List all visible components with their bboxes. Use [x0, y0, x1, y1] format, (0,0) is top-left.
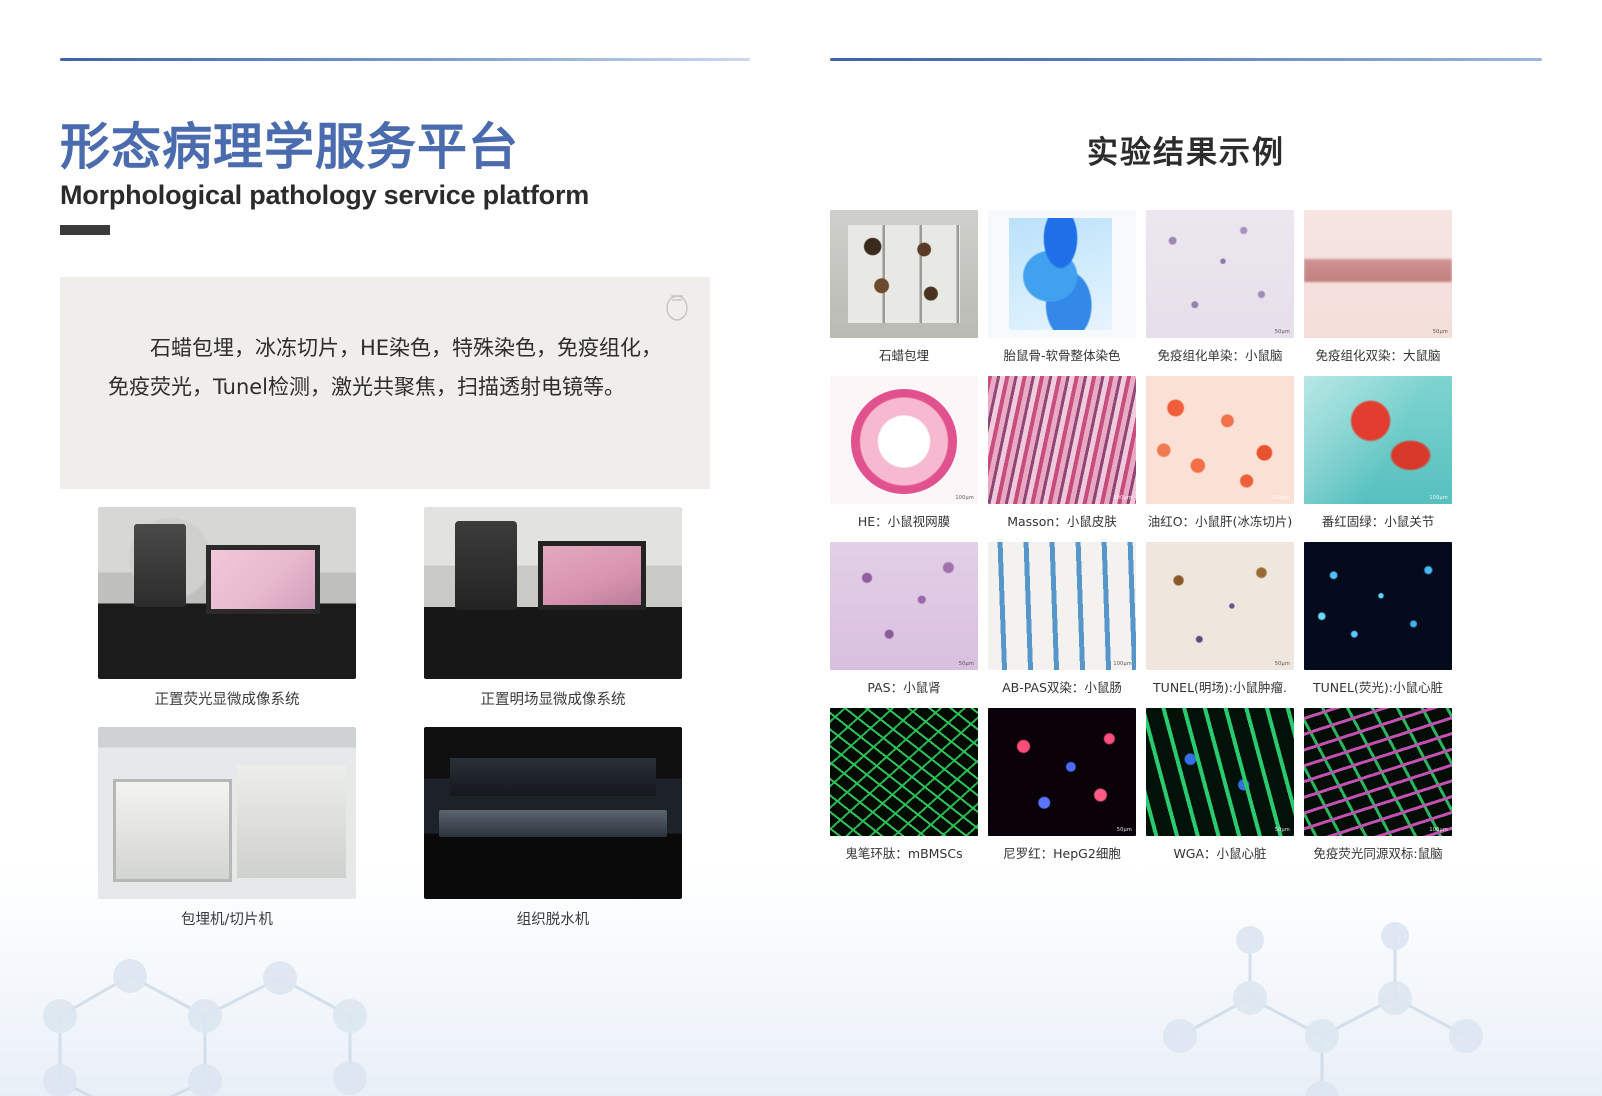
result-item: TUNEL(荧光):小鼠心脏 [1304, 542, 1452, 704]
description-panel: 石蜡包埋，冰冻切片，HE染色，特殊染色，免疫组化，免疫荧光，Tunel检测，激光… [60, 277, 710, 489]
result-item: 50μm 免疫组化单染：小鼠脑 [1146, 210, 1294, 372]
equipment-caption: 组织脱水机 [424, 908, 682, 929]
page-title-english: Morphological pathology service platform [60, 180, 750, 211]
result-caption: PAS：小鼠肾 [830, 677, 978, 696]
scale-bar-label: 50μm [1275, 827, 1290, 833]
right-column: 实验结果示例 石蜡包埋 胎鼠骨-软骨整体染色 50μm [830, 58, 1542, 870]
result-photo-he-mouse-retina: 100μm [830, 376, 978, 504]
result-caption: 石蜡包埋 [830, 345, 978, 364]
result-photo-wga-mouse-heart: 50μm [1146, 708, 1294, 836]
equipment-item: 正置明场显微成像系统 [424, 507, 682, 721]
left-top-divider [60, 58, 750, 61]
title-underline-accent [60, 225, 110, 235]
scale-bar-label: 50μm [1275, 661, 1290, 667]
equipment-photo-embedder-microtome [98, 727, 356, 899]
scale-bar-label: 100μm [1429, 495, 1448, 501]
scale-bar-label: 50μm [1275, 329, 1290, 335]
scale-bar-label: 50μm [959, 661, 974, 667]
result-photo-fetal-bone-cartilage-stain [988, 210, 1136, 338]
result-item: 石蜡包埋 [830, 210, 978, 372]
description-text: 石蜡包埋，冰冻切片，HE染色，特殊染色，免疫组化，免疫荧光，Tunel检测，激光… [108, 329, 668, 407]
result-photo-masson-mouse-skin: 100μm [988, 376, 1136, 504]
result-caption: 尼罗红：HepG2细胞 [988, 843, 1136, 862]
result-item: 100μm HE：小鼠视网膜 [830, 376, 978, 538]
equipment-caption: 正置荧光显微成像系统 [98, 688, 356, 709]
result-caption: HE：小鼠视网膜 [830, 511, 978, 530]
result-item: 100μm AB-PAS双染：小鼠肠 [988, 542, 1136, 704]
equipment-caption: 正置明场显微成像系统 [424, 688, 682, 709]
scale-bar-label: 100μm [1429, 827, 1448, 833]
result-photo-tunel-fluorescence-mouse-heart [1304, 542, 1452, 670]
result-item: 50μm 尼罗红：HepG2细胞 [988, 708, 1136, 870]
result-caption: 油红O：小鼠肝(冰冻切片) [1146, 511, 1294, 530]
result-item: 50μm PAS：小鼠肾 [830, 542, 978, 704]
result-caption: 胎鼠骨-软骨整体染色 [988, 345, 1136, 364]
equipment-caption: 包埋机/切片机 [98, 908, 356, 929]
scale-bar-label: 100μm [1113, 495, 1132, 501]
right-top-divider [830, 58, 1542, 61]
result-photo-nile-red-hepg2-cells: 50μm [988, 708, 1136, 836]
scale-bar-label: 50μm [1433, 329, 1448, 335]
result-item: 鬼笔环肽：mBMSCs [830, 708, 978, 870]
result-photo-safranin-fast-green-mouse-joint: 100μm [1304, 376, 1452, 504]
result-item: 100μm 油红O：小鼠肝(冰冻切片) [1146, 376, 1294, 538]
result-caption: 番红固绿：小鼠关节 [1304, 511, 1452, 530]
result-caption: 免疫组化单染：小鼠脑 [1146, 345, 1294, 364]
equipment-photo-upright-fluorescence [98, 507, 356, 679]
scale-bar-label: 50μm [1117, 827, 1132, 833]
result-caption: TUNEL(明场):小鼠肿瘤. [1146, 677, 1294, 696]
result-caption: AB-PAS双染：小鼠肠 [988, 677, 1136, 696]
result-item: 100μm 免疫荧光同源双标:鼠脑 [1304, 708, 1452, 870]
page-title-chinese: 形态病理学服务平台 [60, 121, 750, 174]
result-caption: 免疫组化双染：大鼠脑 [1304, 345, 1452, 364]
result-photo-ihc-single-mouse-brain: 50μm [1146, 210, 1294, 338]
result-item: 50μm 免疫组化双染：大鼠脑 [1304, 210, 1452, 372]
slide-page: 形态病理学服务平台 Morphological pathology servic… [0, 0, 1602, 1096]
result-photo-oil-red-o-mouse-liver: 100μm [1146, 376, 1294, 504]
results-section-title: 实验结果示例 [830, 127, 1542, 172]
result-photo-if-homologous-double-label-mouse-brain: 100μm [1304, 708, 1452, 836]
result-photo-pas-mouse-kidney: 50μm [830, 542, 978, 670]
result-item: 胎鼠骨-软骨整体染色 [988, 210, 1136, 372]
result-photo-ihc-double-rat-brain: 50μm [1304, 210, 1452, 338]
scale-bar-label: 100μm [955, 495, 974, 501]
equipment-item: 正置荧光显微成像系统 [98, 507, 356, 721]
scale-bar-label: 100μm [1271, 495, 1290, 501]
scale-bar-label: 100μm [1113, 661, 1132, 667]
equipment-photo-upright-brightfield [424, 507, 682, 679]
result-caption: 免疫荧光同源双标:鼠脑 [1304, 843, 1452, 862]
result-photo-paraffin-embedding [830, 210, 978, 338]
equipment-photo-grid: 正置荧光显微成像系统 正置明场显微成像系统 包埋机/切片机 [60, 507, 720, 941]
left-column: 形态病理学服务平台 Morphological pathology servic… [60, 58, 750, 941]
result-caption: WGA：小鼠心脏 [1146, 843, 1294, 862]
equipment-item: 组织脱水机 [424, 727, 682, 941]
result-item: 50μm TUNEL(明场):小鼠肿瘤. [1146, 542, 1294, 704]
result-photo-phalloidin-mbmscs [830, 708, 978, 836]
lightbulb-icon [662, 291, 692, 327]
result-item: 100μm Masson：小鼠皮肤 [988, 376, 1136, 538]
equipment-photo-tissue-processor [424, 727, 682, 899]
result-caption: TUNEL(荧光):小鼠心脏 [1304, 677, 1452, 696]
result-caption: 鬼笔环肽：mBMSCs [830, 843, 978, 862]
equipment-item: 包埋机/切片机 [98, 727, 356, 941]
result-item: 100μm 番红固绿：小鼠关节 [1304, 376, 1452, 538]
result-item: 50μm WGA：小鼠心脏 [1146, 708, 1294, 870]
results-image-grid: 石蜡包埋 胎鼠骨-软骨整体染色 50μm 免疫组化单染：小鼠脑 [830, 210, 1542, 870]
result-photo-ab-pas-double-mouse-intestine: 100μm [988, 542, 1136, 670]
result-caption: Masson：小鼠皮肤 [988, 511, 1136, 530]
result-photo-tunel-brightfield-mouse-tumor: 50μm [1146, 542, 1294, 670]
